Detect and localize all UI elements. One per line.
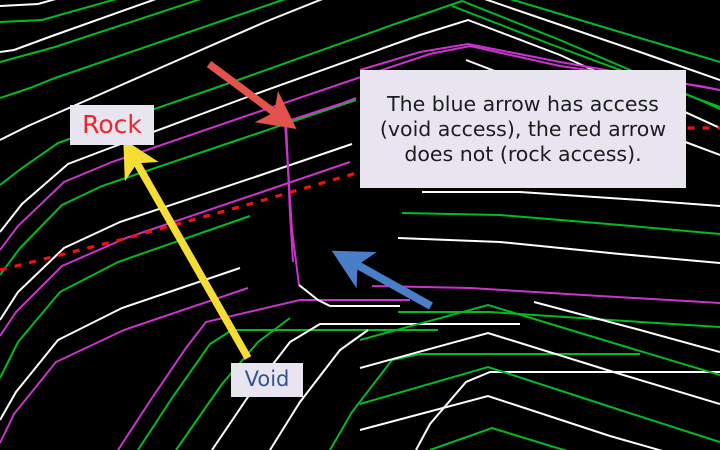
callout-line-2: (void access), the red arrow <box>380 117 666 142</box>
rock-label: Rock <box>70 105 154 145</box>
contour-white <box>0 0 330 140</box>
contour-magenta <box>0 162 350 336</box>
contour-green <box>0 100 356 275</box>
rock-label-text: Rock <box>82 110 142 141</box>
callout-textbox: The blue arrow has access (void access),… <box>360 70 686 188</box>
contour-green <box>0 0 210 62</box>
contour-white <box>398 238 720 263</box>
contour-green <box>430 428 590 450</box>
contour-white <box>422 192 720 206</box>
contour-green <box>360 367 720 442</box>
void-label-text: Void <box>245 367 290 393</box>
contour-green <box>402 213 720 234</box>
yellow-arrow <box>134 158 248 358</box>
callout-line-1: The blue arrow has access <box>387 92 659 117</box>
void-label: Void <box>231 363 303 397</box>
contour-white <box>0 0 95 6</box>
void-polygon-white-wall <box>299 285 330 306</box>
callout-line-3: does not (rock access). <box>404 142 641 167</box>
contour-white <box>360 333 720 404</box>
void-polygon-magenta-top <box>285 98 356 122</box>
section-view-canvas: Rock Void The blue arrow has access (voi… <box>0 0 720 450</box>
contour-lines-layer <box>0 0 720 450</box>
contour-white <box>360 396 680 450</box>
